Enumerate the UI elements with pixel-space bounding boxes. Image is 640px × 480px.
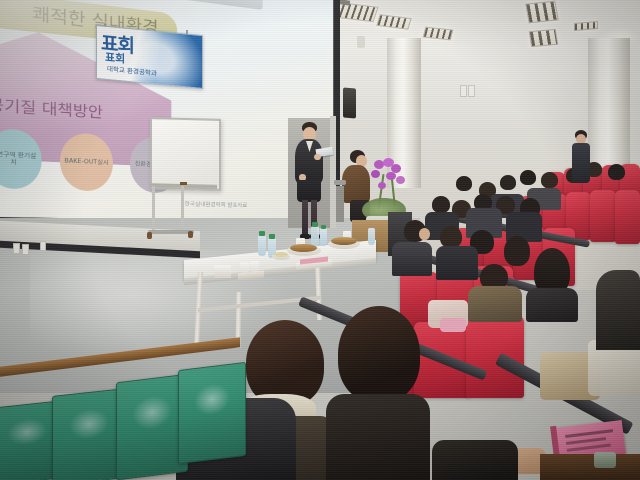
audience-seat — [615, 190, 640, 244]
water-bottle — [320, 228, 327, 246]
audience-seat — [590, 190, 616, 242]
event-banner: 표회 표회 대학교 환경공학과 — [96, 25, 203, 89]
floor-outlet — [40, 241, 46, 251]
water-bottle — [311, 226, 319, 246]
floor-outlet — [22, 244, 29, 255]
presenter-skirt — [297, 180, 321, 202]
whiteboard-leg — [181, 186, 184, 228]
orchid-bloom — [371, 170, 380, 178]
audience-torso — [392, 242, 432, 276]
front-bench-seat — [178, 362, 246, 464]
audience-member — [500, 175, 516, 190]
presenter-hand — [314, 154, 321, 160]
audience-member — [466, 264, 522, 322]
audience-seat — [466, 316, 524, 398]
wall-speaker — [343, 88, 356, 119]
bottle-cap — [321, 225, 326, 229]
seat-highlight — [69, 407, 109, 441]
slide-bubble-label: BAKE-OUT실시 — [64, 158, 108, 167]
water-bottle — [258, 235, 266, 256]
audience-member — [608, 164, 625, 180]
bottle-cap — [259, 231, 265, 236]
right-edge-attendee — [596, 270, 640, 350]
floor-outlet — [13, 243, 20, 254]
booklet-text — [565, 429, 613, 438]
orchid-bloom — [378, 182, 386, 189]
seat-highlight — [7, 417, 47, 447]
audience-member — [432, 196, 450, 213]
audience-coat — [468, 286, 522, 322]
small-container — [594, 452, 616, 468]
dark-sleeve — [432, 440, 518, 480]
foreground-attendee-hair — [338, 306, 420, 402]
box-on-table — [214, 265, 231, 278]
audience-face — [419, 228, 430, 240]
foreground-attendee — [330, 306, 436, 476]
audience-member — [520, 170, 536, 185]
assistant-chair — [334, 180, 346, 185]
presenter-leg — [302, 200, 308, 236]
whiteboard-caster — [147, 232, 152, 239]
bottle-cap — [269, 234, 275, 239]
wall-sconce — [357, 36, 365, 48]
foreground-attendee-coat — [326, 394, 430, 480]
standing-attendee-body — [572, 143, 590, 183]
assistant-chair — [336, 186, 344, 222]
orchid-bloom — [396, 176, 405, 184]
food-items — [290, 244, 317, 252]
ceiling-light — [525, 1, 559, 24]
orchid-bloom — [386, 172, 396, 180]
whiteboard-caster — [188, 231, 193, 238]
booklet-text — [567, 444, 611, 452]
audience-coat — [526, 288, 578, 322]
whiteboard-marker — [180, 182, 187, 185]
bottle-cap — [312, 222, 318, 227]
wall-switch — [460, 85, 467, 97]
pink-item — [440, 318, 466, 332]
water-bottle — [368, 228, 375, 245]
audience-member — [440, 226, 462, 248]
food-items — [274, 252, 288, 257]
ceiling-light — [529, 29, 559, 47]
front-bench-seat — [52, 388, 126, 480]
audience-member — [524, 248, 578, 322]
standing-attendee — [572, 130, 590, 184]
seat-highlight — [194, 381, 231, 417]
wall-switch — [468, 85, 475, 97]
audience-member — [456, 176, 472, 191]
seat-highlight — [132, 394, 171, 431]
wooden-ledge — [540, 454, 640, 480]
slide-bubble-label: 흡연구역 환기설치 — [0, 150, 39, 167]
photo-scene: 실내공기질 대책방안 쾌적한 실내환경 실내공기질 대책방안 환기설비 흡연구역… — [0, 0, 640, 480]
mobile-whiteboard — [150, 117, 221, 191]
whiteboard-leg — [152, 186, 155, 234]
audience-member — [541, 172, 558, 188]
food-items — [331, 237, 357, 245]
